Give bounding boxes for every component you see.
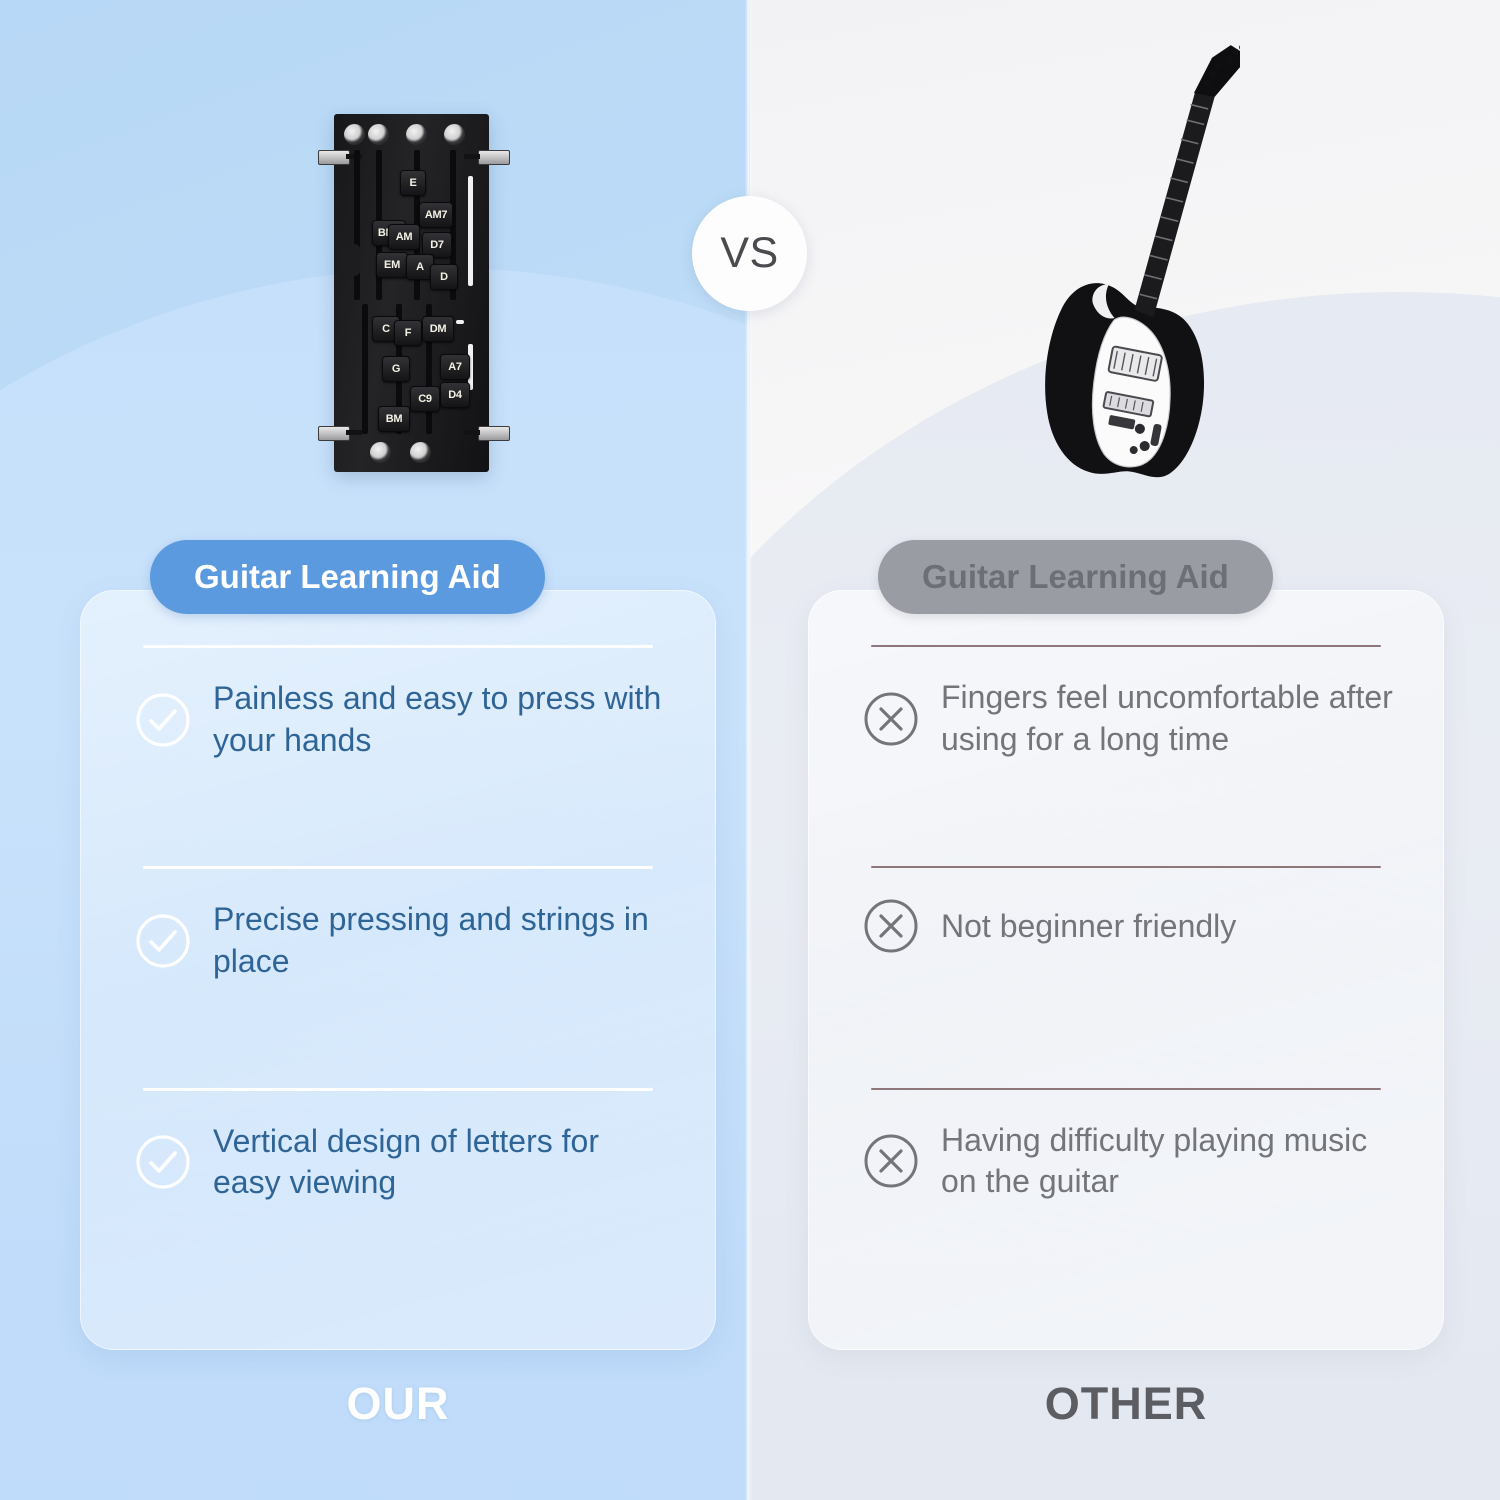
device-rail-nub xyxy=(456,320,464,324)
guitar-learning-aid-device-image: E AM7 BM7 AM D7 EM A D C F DM G A7 D4 C9… xyxy=(318,114,508,472)
other-feature-3-text: Having difficulty playing music on the g… xyxy=(941,1120,1397,1203)
other-feature-1: Fingers feel uncomfortable after using f… xyxy=(849,647,1403,760)
device-block xyxy=(340,244,360,276)
chord-key-G: G xyxy=(382,356,410,382)
chord-key-D4: D4 xyxy=(440,382,470,408)
device-screw-2 xyxy=(368,124,389,145)
other-row-3: Having difficulty playing music on the g… xyxy=(849,1088,1403,1309)
comparison-infographic: VS E AM7 BM7 AM D7 EM A D xyxy=(0,0,1500,1500)
device-slot-1 xyxy=(354,150,360,300)
device-screw-6 xyxy=(410,442,431,463)
device-clamp-bottom-right xyxy=(478,426,510,441)
electric-guitar-image xyxy=(1010,22,1240,510)
our-feature-3: Vertical design of letters for easy view… xyxy=(121,1091,675,1204)
our-row-1: Painless and easy to press with your han… xyxy=(121,645,675,866)
our-feature-3-text: Vertical design of letters for easy view… xyxy=(213,1121,669,1204)
other-badge: Guitar Learning Aid xyxy=(878,540,1273,614)
device-screw-1 xyxy=(344,124,365,145)
chord-key-DM: DM xyxy=(422,316,454,342)
check-circle-icon xyxy=(135,692,191,748)
x-circle-icon xyxy=(863,691,919,747)
guitar-svg xyxy=(1010,22,1240,510)
chord-key-F: F xyxy=(394,320,422,346)
other-footer-label: OTHER xyxy=(808,1378,1444,1430)
our-row-3: Vertical design of letters for easy view… xyxy=(121,1088,675,1309)
chord-key-BM: BM xyxy=(378,406,410,432)
other-rows: Fingers feel uncomfortable after using f… xyxy=(849,645,1403,1309)
other-feature-1-text: Fingers feel uncomfortable after using f… xyxy=(941,677,1397,760)
our-badge: Guitar Learning Aid xyxy=(150,540,545,614)
chord-key-AM: AM xyxy=(388,224,420,250)
device-rail-upper xyxy=(468,176,473,286)
device-clamp-arm-bl xyxy=(346,430,362,435)
our-feature-1-text: Painless and easy to press with your han… xyxy=(213,678,669,761)
chord-key-A7: A7 xyxy=(440,354,470,380)
chord-key-AM7: AM7 xyxy=(419,202,453,228)
chord-key-C9: C9 xyxy=(410,386,440,412)
x-circle-icon xyxy=(863,898,919,954)
our-feature-1: Painless and easy to press with your han… xyxy=(121,648,675,761)
device-clamp-arm-tr xyxy=(464,154,480,159)
x-circle-icon xyxy=(863,1133,919,1189)
our-benefits-card: Painless and easy to press with your han… xyxy=(80,590,716,1350)
check-circle-icon xyxy=(135,913,191,969)
device-clamp-arm-br xyxy=(464,430,480,435)
vs-badge: VS xyxy=(692,196,807,311)
other-row-2: Not beginner friendly xyxy=(849,866,1403,1087)
other-feature-2-text: Not beginner friendly xyxy=(941,906,1236,948)
our-rows: Painless and easy to press with your han… xyxy=(121,645,675,1309)
chord-key-E: E xyxy=(400,170,426,196)
other-row-1: Fingers feel uncomfortable after using f… xyxy=(849,645,1403,866)
device-screw-4 xyxy=(444,124,465,145)
other-feature-2: Not beginner friendly xyxy=(849,868,1403,954)
device-slot-5 xyxy=(362,304,368,434)
device-clamp-top-right xyxy=(478,150,510,165)
our-feature-2-text: Precise pressing and strings in place xyxy=(213,899,669,982)
other-feature-3: Having difficulty playing music on the g… xyxy=(849,1090,1403,1203)
device-screw-3 xyxy=(406,124,427,145)
our-footer-label: OUR xyxy=(80,1378,716,1430)
our-feature-2: Precise pressing and strings in place xyxy=(121,869,675,982)
chord-key-EM: EM xyxy=(376,252,408,278)
device-screw-5 xyxy=(370,442,391,463)
other-drawbacks-card: Fingers feel uncomfortable after using f… xyxy=(808,590,1444,1350)
check-circle-icon xyxy=(135,1134,191,1190)
chord-key-D: D xyxy=(430,264,458,290)
our-row-2: Precise pressing and strings in place xyxy=(121,866,675,1087)
